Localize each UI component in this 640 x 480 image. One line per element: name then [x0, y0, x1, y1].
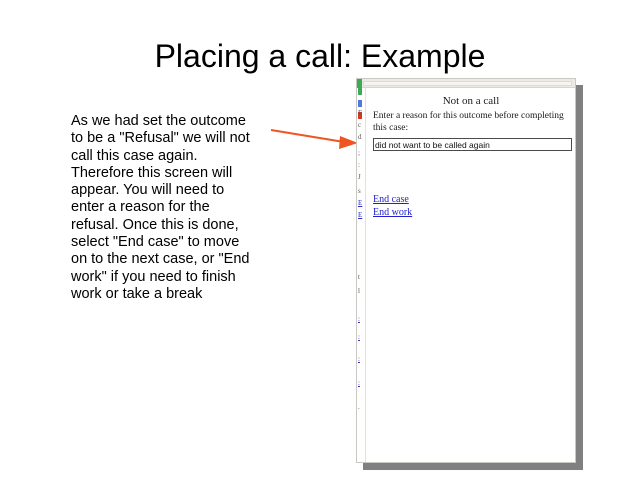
strip-text-fragment: d [358, 134, 365, 141]
strip-text-fragment: : [358, 162, 365, 169]
app-toolbar[interactable] [357, 79, 575, 88]
strip-text-fragment: E [358, 110, 365, 117]
toolbar-status-marker-icon [357, 79, 362, 88]
strip-text-fragment: E [358, 212, 365, 219]
end-work-link[interactable]: End work [373, 206, 569, 219]
end-case-link[interactable]: End case [373, 193, 569, 206]
reason-input[interactable] [373, 138, 572, 151]
strip-text-fragment: : [358, 334, 365, 341]
strip-text-fragment: : [358, 316, 365, 323]
clipped-left-column: Ecd;:JsEEtl::::. [357, 88, 366, 462]
strip-text-fragment: ; [358, 150, 365, 157]
annotation-arrow [262, 118, 366, 154]
strip-text-fragment: : [358, 356, 365, 363]
strip-marker-icon [358, 88, 362, 95]
app-heading: Not on a call [373, 95, 569, 107]
strip-text-fragment: t [358, 274, 365, 281]
strip-text-fragment: . [358, 404, 365, 411]
horizontal-scrollbar[interactable] [363, 81, 572, 86]
strip-text-fragment: E [358, 200, 365, 207]
arrow-shaft-icon [271, 130, 344, 142]
strip-text-fragment: s [358, 188, 365, 195]
app-action-links: End case End work [373, 193, 569, 219]
strip-text-fragment: c [358, 122, 365, 129]
strip-text-fragment: l [358, 288, 365, 295]
strip-text-fragment: : [358, 380, 365, 387]
page-title: Placing a call: Example [0, 38, 640, 75]
app-content-pane: Not on a call Enter a reason for this ou… [367, 88, 575, 462]
strip-marker-icon [358, 100, 362, 107]
strip-text-fragment: J [358, 174, 365, 181]
app-screenshot-window[interactable]: Ecd;:JsEEtl::::. Not on a call Enter a r… [356, 78, 576, 463]
reason-instruction-label: Enter a reason for this outcome before c… [373, 111, 569, 134]
slide-body-text: As we had set the outcome to be a "Refus… [71, 113, 257, 303]
